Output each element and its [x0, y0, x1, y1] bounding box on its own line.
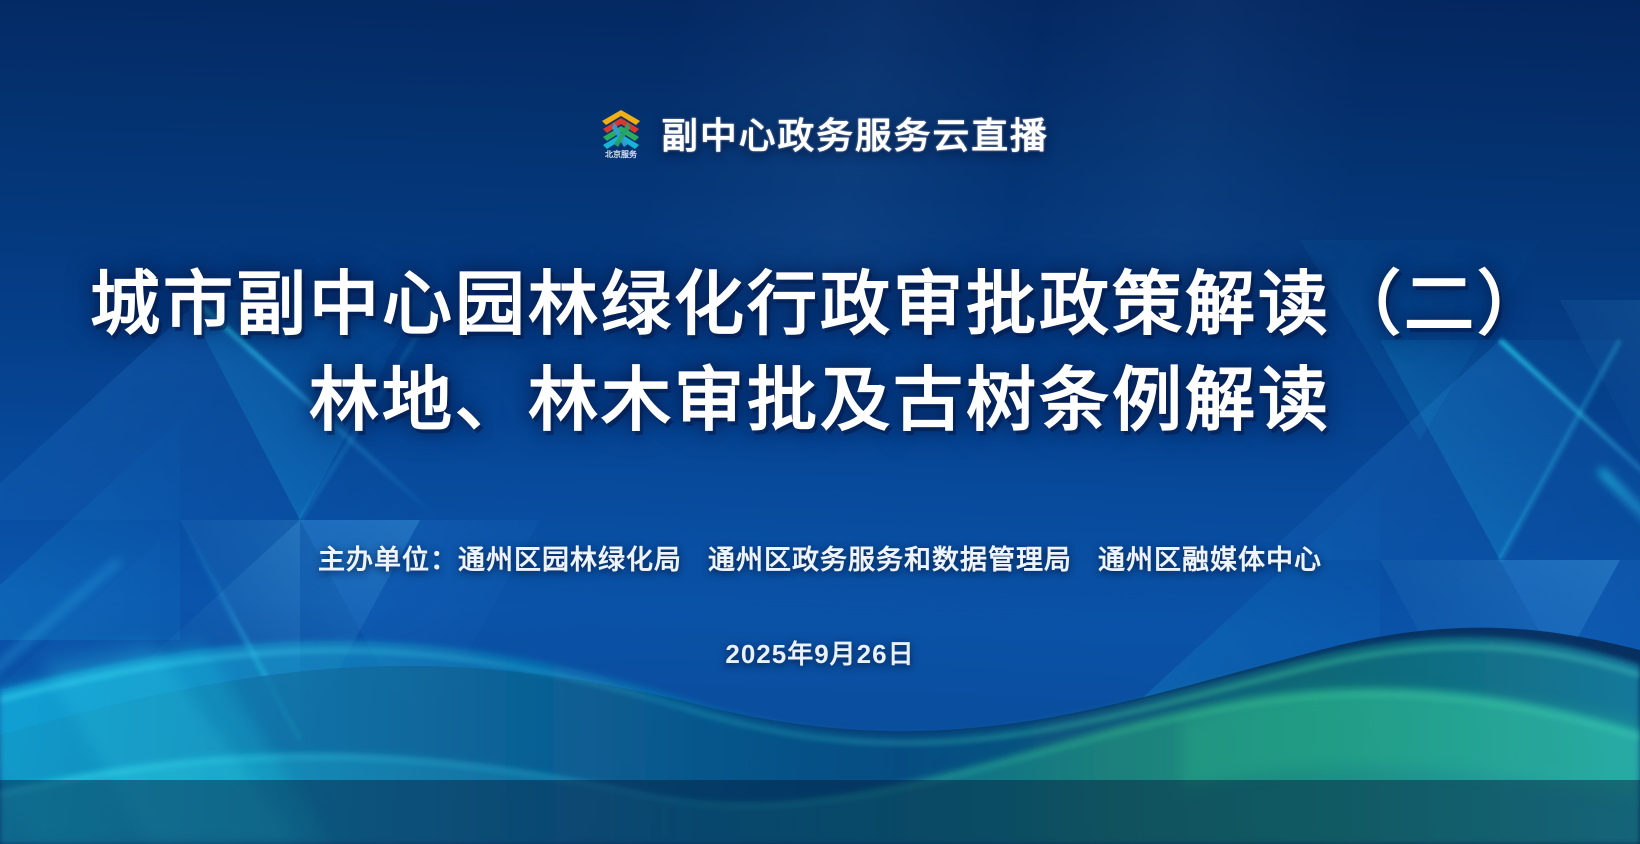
page-title-line-2: 林地、林木审批及古树条例解读	[0, 354, 1640, 450]
organizer-2: 通州区政务服务和数据管理局	[708, 545, 1072, 575]
svg-text:北京服务: 北京服务	[605, 149, 638, 159]
page-title: 城市副中心园林绿化行政审批政策解读（二） 林地、林木审批及古树条例解读	[0, 258, 1640, 450]
page-title-line-1: 城市副中心园林绿化行政审批政策解读（二）	[0, 258, 1640, 354]
broadcast-header: 北京服务 副中心政务服务云直播	[0, 104, 1640, 162]
organizer-3: 通州区融媒体中心	[1098, 545, 1322, 575]
livestream-title-card: 北京服务 副中心政务服务云直播 城市副中心园林绿化行政审批政策解读（二） 林地、…	[0, 0, 1640, 844]
event-date: 2025年9月26日	[0, 634, 1640, 671]
organizers-label: 主办单位：	[318, 545, 458, 575]
beijing-service-roof-logo-icon: 北京服务	[595, 104, 647, 162]
event-date-text: 2025年9月26日	[725, 639, 914, 669]
organizer-1: 通州区园林绿化局	[458, 545, 682, 575]
organizers-line: 主办单位：通州区园林绿化局通州区政务服务和数据管理局通州区融媒体中心	[0, 538, 1640, 577]
broadcast-title: 副中心政务服务云直播	[661, 107, 1049, 159]
